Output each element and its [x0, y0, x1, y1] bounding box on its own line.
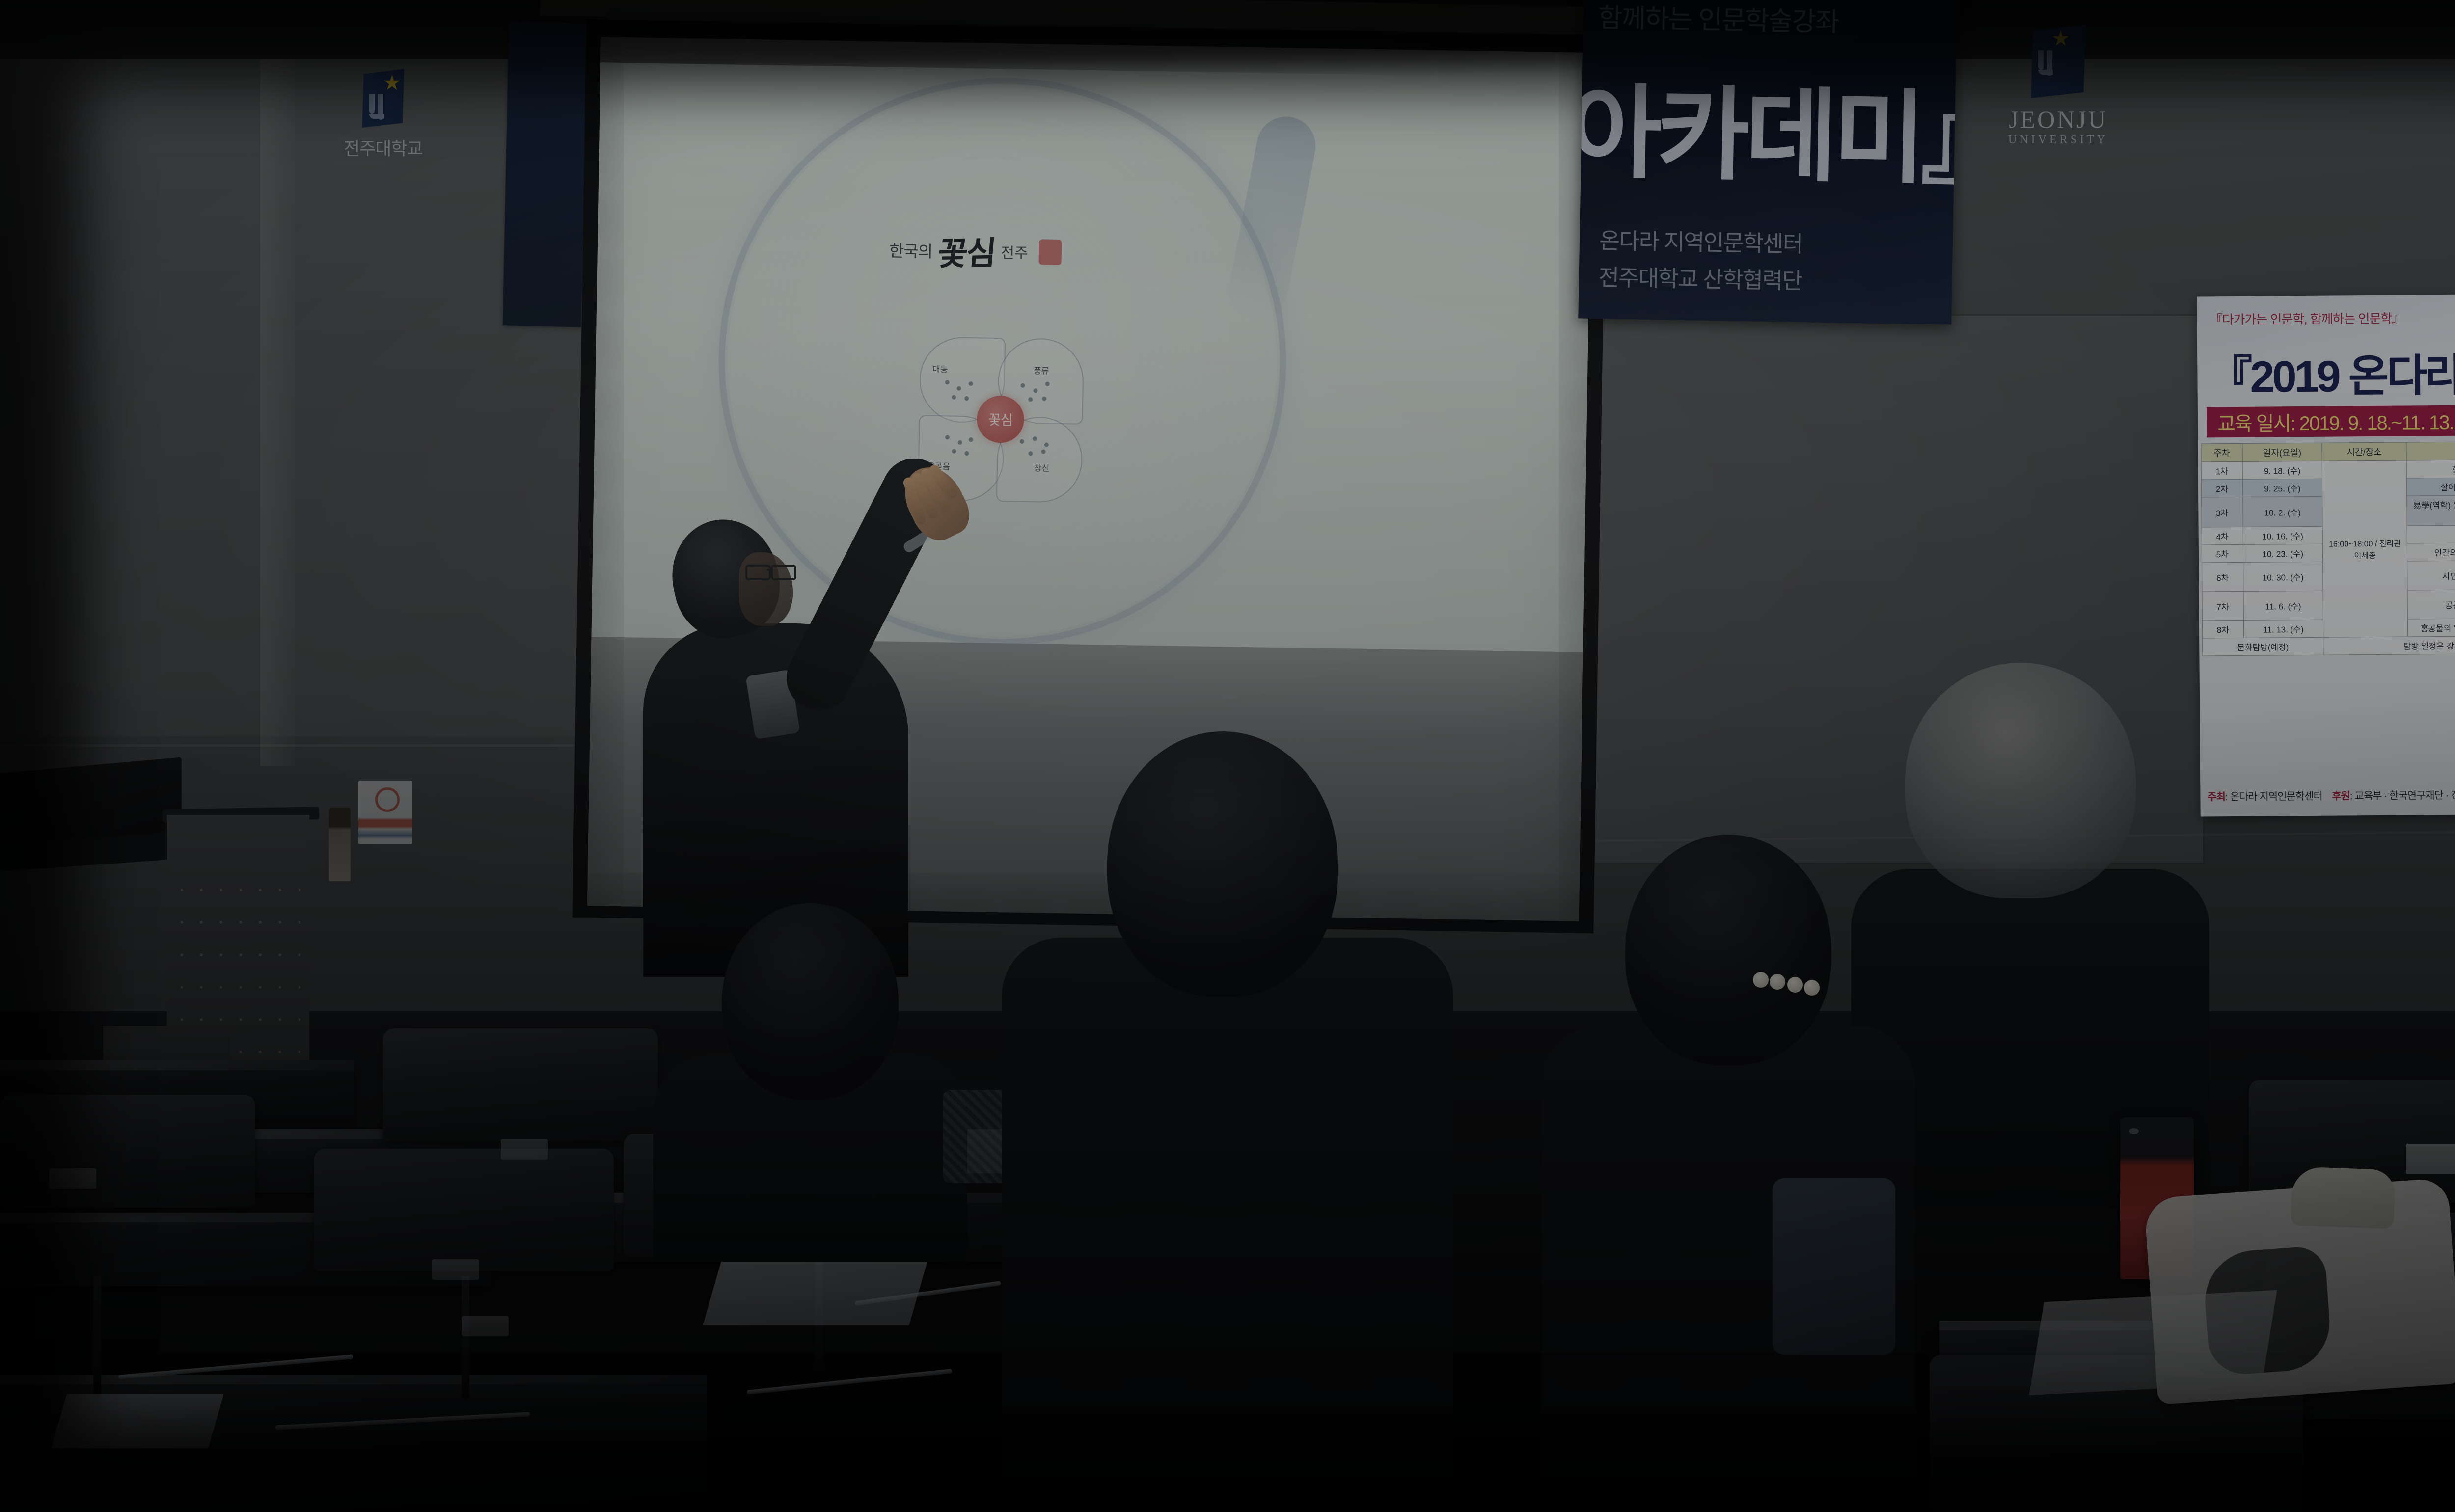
chair-back[interactable]	[0, 1095, 255, 1208]
cell-date: 11. 13. (수)	[2243, 620, 2323, 638]
jj-monogram-icon	[368, 94, 395, 123]
poster-kicker-left: 『다가가는 인문학, 함께하는 인문학』	[2210, 309, 2404, 328]
th-topic: 강의 주제	[2406, 441, 2455, 461]
cell-date: 10. 2. (수)	[2242, 496, 2322, 527]
poster-title: 『2019 온다라 인문 아카데미』	[2208, 338, 2455, 405]
chair-back[interactable]	[383, 1028, 658, 1141]
cell-week: 2차	[2201, 479, 2242, 497]
cell-date: 9. 18. (수)	[2242, 461, 2322, 479]
cell-topic: 공존을 위한 인간 성찰로 미래	[2407, 589, 2455, 620]
audience-head	[1107, 731, 1338, 997]
cell-topic: 인간의 국가, 중국의 '국학부흥' 현상	[2407, 542, 2455, 562]
cell-topic: 살아있는 유교문화의 공간, 향교	[2407, 477, 2455, 496]
jeonju-university-logo-en: JEONJU UNIVERSITY	[2008, 25, 2108, 147]
poster-footer: 주최: 온다라 지역인문학센터 후원: 교육부 · 한국연구재단 · 전주대학교…	[2207, 786, 2455, 804]
poster-sponsor: 교육부 · 한국연구재단 · 전주대학교 · 전주대학교 산학협력단	[2354, 789, 2455, 802]
th-date: 일자(요일)	[2242, 443, 2322, 461]
poster-date-band: 교육 일시: 2019. 9. 18.~11. 13. 매주 수요일, 16시~…	[2207, 404, 2455, 437]
poster-kicker-row: 『다가가는 인문학, 함께하는 인문학』 함께하는 인문학술강좌	[2197, 307, 2455, 328]
cell-time-place: 16:00~18:00 / 진리관 이세종	[2322, 460, 2408, 637]
audience-head-white-hair	[1905, 663, 2136, 898]
desk-nameplate	[49, 1168, 96, 1189]
wall-card	[2406, 1144, 2455, 1174]
fire-extinguisher-sign-icon	[358, 781, 412, 844]
bag-knot	[2291, 1166, 2396, 1229]
jeonju-university-logo-kr: 전주대학교	[344, 69, 423, 160]
handout-paper	[703, 1262, 927, 1325]
banner-org-line-1: 온다라 지역인문학센터	[1599, 223, 1803, 259]
audience-head	[722, 903, 899, 1100]
desk-nameplate	[501, 1139, 548, 1160]
university-flag-icon	[2031, 25, 2086, 98]
university-flag-icon	[362, 69, 404, 128]
audience-back-row	[653, 903, 948, 1247]
cell-week: 4차	[2202, 527, 2243, 545]
cell-topic: 향교, 서원의 통섭적 접근	[2406, 459, 2455, 479]
poster-sponsor-label: 후원	[2332, 790, 2350, 802]
table-header-row: 주차 일자(요일) 시간/장소 강의 주제 강사	[2201, 440, 2455, 462]
cell-date: 10. 23. (수)	[2243, 544, 2323, 562]
cell-week: 7차	[2202, 591, 2243, 621]
banner-top-line: 함께하는 인문학술강좌	[1598, 0, 1839, 39]
audience-hairclip	[1542, 835, 1915, 1512]
presenter-face	[739, 552, 793, 626]
note-text: 탐방 일정은 강사 및 수강생과 협의 후, 11월 13일 전 진행 예정	[2323, 635, 2455, 655]
cell-date: 9. 25. (수)	[2242, 479, 2322, 497]
handout-paper	[51, 1394, 224, 1448]
cell-topic: 홍공물의 '일상' 과 사귀(사귀) 아기발과 윤리	[2408, 618, 2455, 637]
university-name-en: JEONJU	[2008, 105, 2108, 134]
th-week: 주차	[2201, 443, 2242, 462]
cell-week: 8차	[2202, 620, 2243, 638]
poster-host-label: 주최	[2207, 791, 2225, 803]
cell-date: 10. 30. (수)	[2243, 562, 2323, 591]
cell-date: 10. 16. (수)	[2243, 526, 2323, 544]
table-row: 1차9. 18. (수)16:00~18:00 / 진리관 이세종향교, 서원의…	[2201, 459, 2455, 480]
desk-nameplate	[432, 1259, 479, 1280]
cell-date: 11. 6. (수)	[2243, 591, 2323, 620]
audience-scarf	[1773, 1178, 1895, 1355]
banner-org-line-2: 전주대학교 산학협력단	[1598, 260, 1802, 296]
university-name-kr: 전주대학교	[344, 135, 423, 160]
table-note-row: 문화탐방(예정)탐방 일정은 강사 및 수강생과 협의 후, 11월 13일 전…	[2203, 635, 2455, 656]
banner-main-line: 아카데미』	[1578, 51, 1957, 205]
note-label: 문화탐방(예정)	[2203, 637, 2323, 656]
star-icon	[2052, 30, 2069, 47]
audience-torso	[1002, 938, 1453, 1512]
cell-week: 5차	[2202, 544, 2243, 563]
poster-date-text: 교육 일시: 2019. 9. 18.~11. 13. 매주 수요일, 16시~…	[2207, 405, 2455, 436]
cell-week: 1차	[2201, 461, 2242, 480]
cell-topic: '다름' 의 해석학	[2407, 525, 2455, 544]
handout-paper	[2029, 1290, 2277, 1395]
glasses-icon	[745, 565, 799, 577]
jj-monogram-icon	[2037, 50, 2064, 79]
lecture-hall-photo: 전주대학교 한국의 꽃심 전주	[0, 0, 2455, 1512]
poster-schedule-table: 주차 일자(요일) 시간/장소 강의 주제 강사 1차9. 18. (수)16:…	[2201, 440, 2455, 656]
event-poster: 『다가가는 인문학, 함께하는 인문학』 함께하는 인문학술강좌 『2019 온…	[2197, 293, 2455, 817]
wall-pillar-left	[260, 0, 295, 766]
water-bottle	[329, 808, 351, 881]
cell-topic: 시민과 함께하는 공론과 인문학	[2407, 560, 2455, 591]
poster-host: 온다라 지역인문학센터	[2230, 791, 2322, 803]
audience-head	[1625, 835, 1831, 1065]
university-subtitle-en: UNIVERSITY	[2008, 134, 2108, 147]
th-time: 시간/장소	[2322, 442, 2407, 461]
audience-center	[1002, 731, 1444, 1512]
pearl-hairclip-icon	[1753, 972, 1827, 989]
hanging-banner-right: 함께하는 인문학술강좌 아카데미』 온다라 지역인문학센터 전주대학교 산학협력…	[1578, 0, 1957, 325]
hanging-banner-left-edge	[503, 21, 588, 327]
star-icon	[383, 75, 400, 91]
cell-week: 3차	[2202, 497, 2243, 527]
cell-week: 6차	[2202, 562, 2243, 592]
cell-topic: 易學(역학) 원리로 풀어 나가는 건강생활 동양적 교환방송	[2407, 495, 2455, 526]
chair-back[interactable]	[314, 1149, 614, 1271]
patterned-collar	[943, 1090, 1011, 1183]
desk-nameplate	[462, 1316, 509, 1336]
